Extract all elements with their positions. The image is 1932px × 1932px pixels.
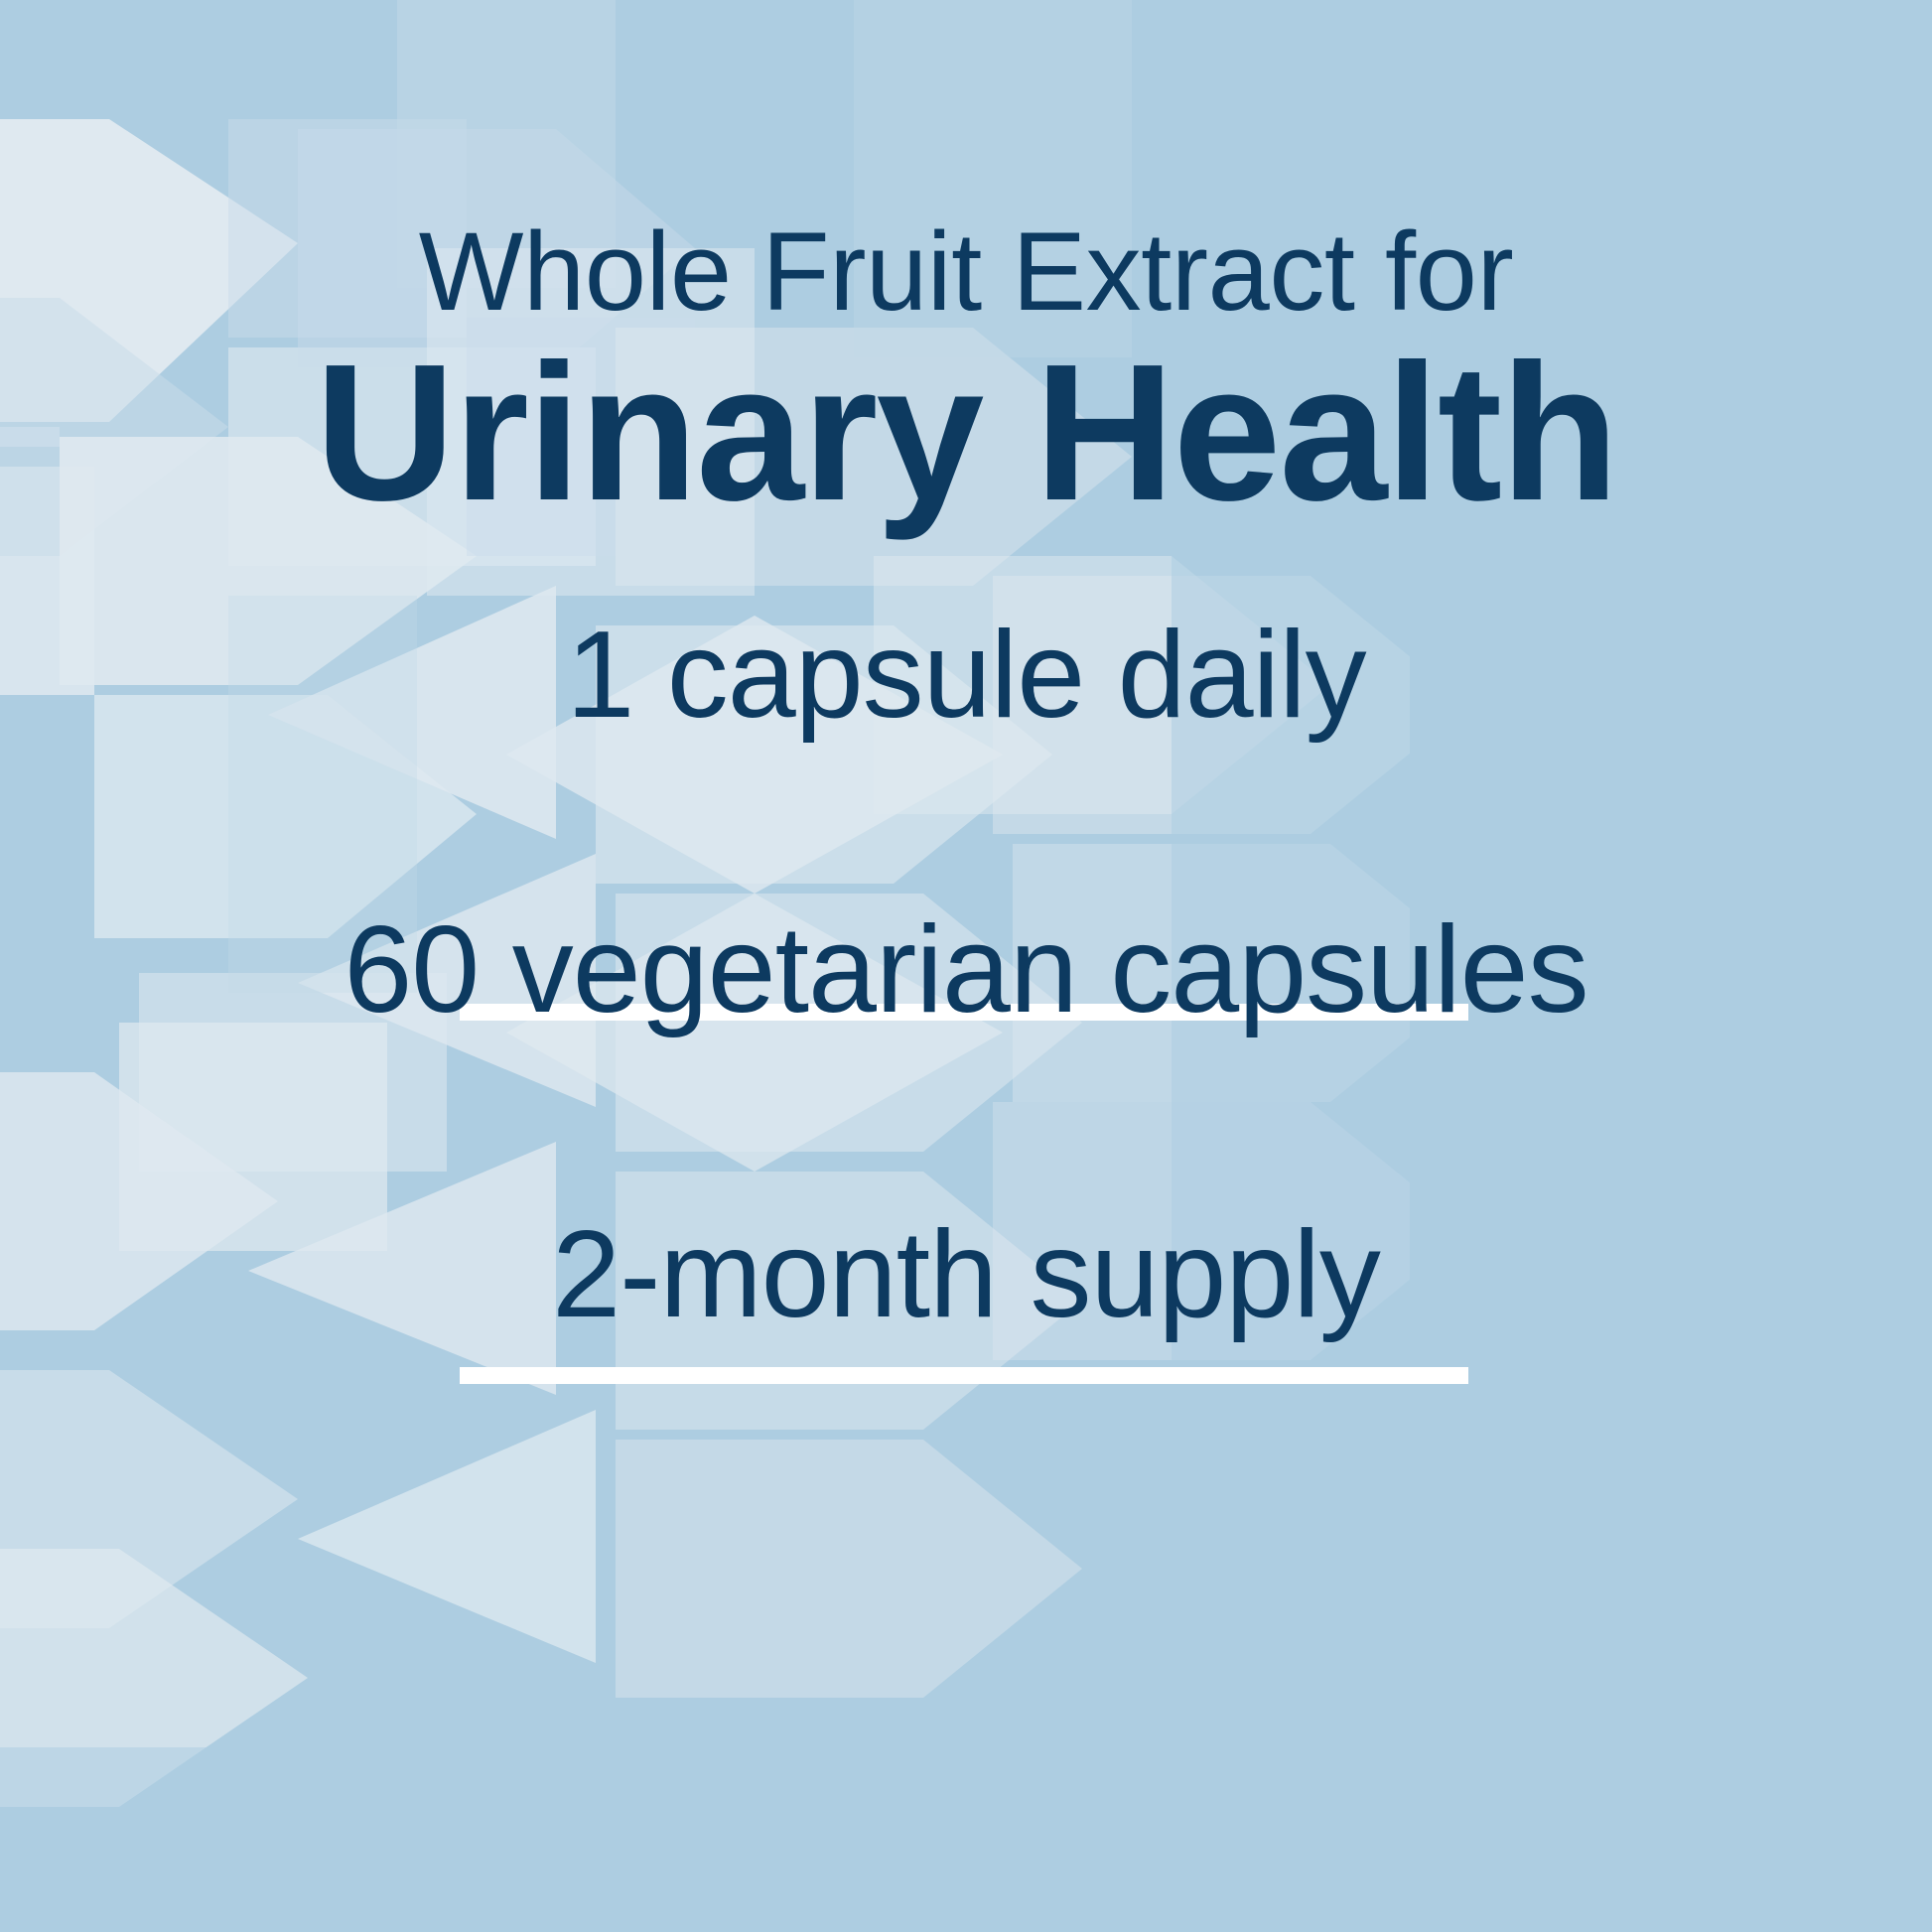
eyebrow-text: Whole Fruit Extract for [0,216,1932,328]
fact-dosage: 1 capsule daily [0,614,1932,737]
fact-count: 60 vegetarian capsules [0,908,1932,1032]
headline-block: Whole Fruit Extract for Urinary Health [0,216,1932,532]
fact-supply: 2-month supply [0,1213,1932,1336]
content-layer: Whole Fruit Extract for Urinary Health 1… [0,0,1932,1932]
divider-2 [460,1367,1468,1384]
page-title: Urinary Health [0,334,1932,532]
product-info-panel: Whole Fruit Extract for Urinary Health 1… [0,0,1932,1932]
